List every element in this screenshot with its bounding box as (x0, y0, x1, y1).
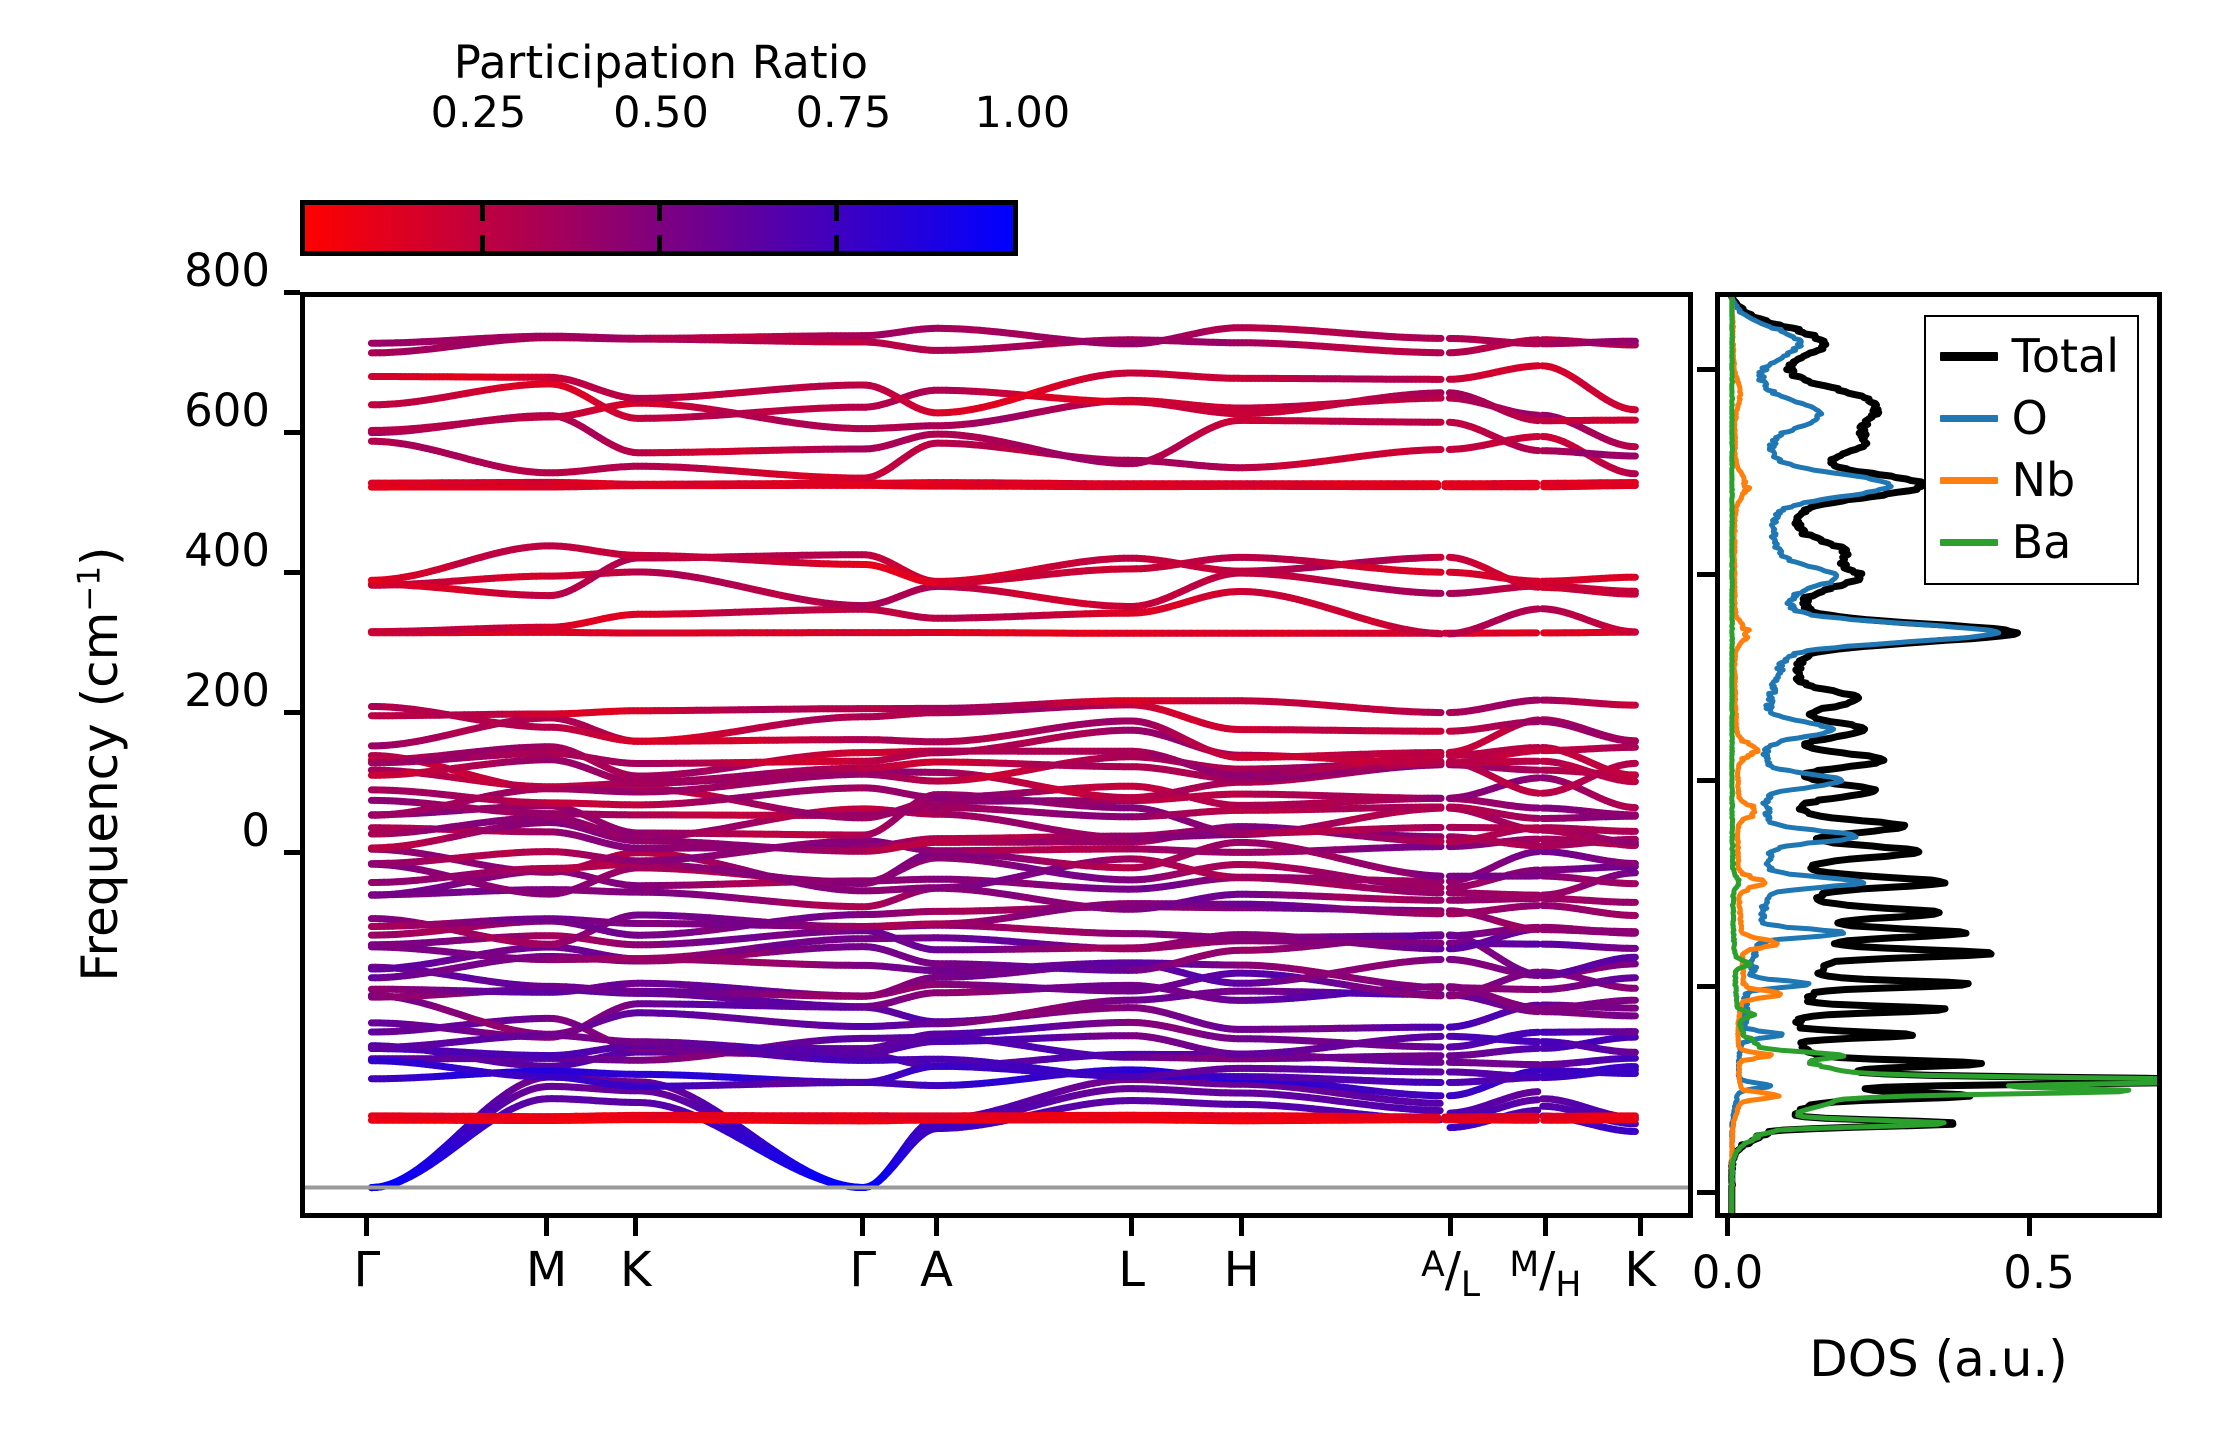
y-tick-mark (284, 290, 300, 295)
y-tick-mark (284, 710, 300, 715)
y-tick-label-800: 800 (100, 244, 270, 297)
colorbar-tick-label: 1.00 (974, 88, 1070, 138)
participation-ratio-colorbar (300, 200, 1018, 256)
y-tick-mark (284, 570, 300, 575)
phonon-band-structure-plot (300, 292, 1693, 1218)
colorbar-title: Participation Ratio (296, 36, 1026, 89)
y-tick-mark (284, 430, 300, 435)
colorbar-tick-labels: 0.25 0.50 0.75 1.00 (296, 88, 1026, 134)
y-tick-mark (284, 850, 300, 855)
y-tick-label-200: 200 (100, 664, 270, 717)
colorbar-tick-label: 0.75 (796, 88, 892, 138)
colorbar-tick-label: 0.50 (613, 88, 709, 138)
colorbar-tick-label: 0.25 (431, 88, 527, 138)
y-tick-label-0: 0 (100, 804, 270, 857)
band-structure-svg (305, 297, 1688, 1213)
phonon-branch-segment (1534, 974, 1538, 975)
y-tick-label-400: 400 (100, 524, 270, 577)
band-y-tick-labels: 800 (0, 0, 268, 1455)
figure-root: Participation Ratio 0.25 0.50 0.75 1.00 … (0, 0, 2222, 1455)
y-tick-label-600: 600 (100, 384, 270, 437)
